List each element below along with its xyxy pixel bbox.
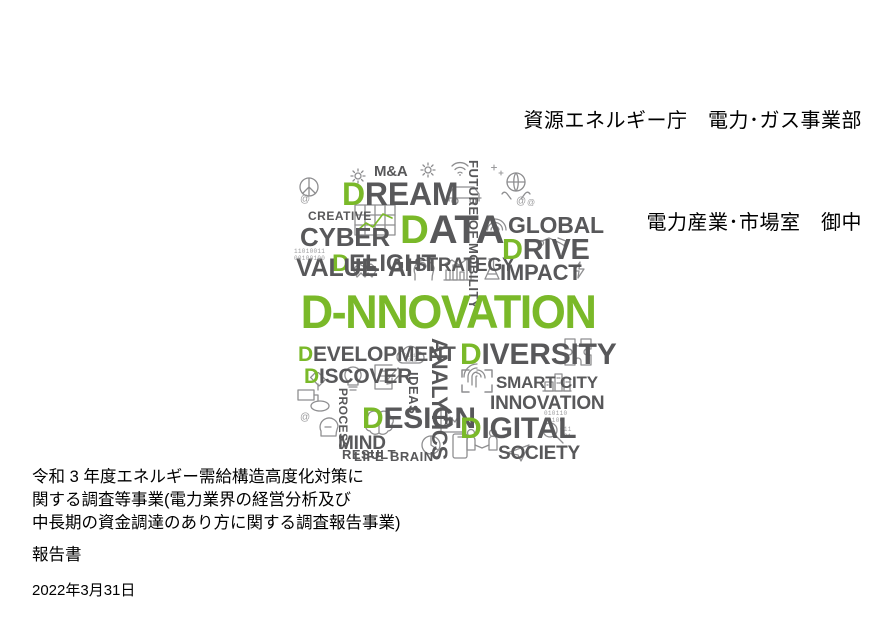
report-title-block: 令和 3 年度エネルギー需給構造高度化対策に 関する調査等事業(電力業界の経営分… <box>32 466 401 567</box>
wordcloud-word-digital: DIGITAL <box>460 414 576 444</box>
sparkle-icon <box>490 164 506 180</box>
report-title-line-2: 関する調査等事業(電力業界の経営分析及び <box>32 489 401 512</box>
report-label: 報告書 <box>32 544 401 567</box>
wordcloud-word-innovation: INNOVATION <box>490 394 604 413</box>
wordcloud-word-creative: CREATIVE <box>308 210 372 222</box>
report-title-line-3: 中長期の資金調達のあり方に関する調査報告事業) <box>32 512 401 535</box>
wordcloud-word-data: DATA <box>400 210 504 250</box>
wordcloud-stage: @ @ @ M&A DREAM CREATIVE CYBER DATA <box>292 148 604 466</box>
binary-motif: 11010011 00100100 <box>294 248 325 262</box>
wordcloud-word-ideas: IDEAS <box>407 372 420 414</box>
svg-text:@: @ <box>300 412 310 422</box>
report-date: 2022年3月31日 <box>32 581 135 601</box>
wordcloud-word-society: SOCIETY <box>498 444 580 463</box>
wordcloud-word-dream: DREAM <box>342 178 458 210</box>
svg-text:@: @ <box>516 196 526 206</box>
at-symbol-icon: @ @ <box>516 194 538 206</box>
wordcloud-graphic: @ @ @ M&A DREAM CREATIVE CYBER DATA <box>292 148 604 466</box>
svg-text:@: @ <box>300 194 310 204</box>
at-symbol-icon: @ <box>300 192 312 204</box>
wordcloud-word-life: LIFE <box>354 450 384 463</box>
svg-text:@: @ <box>527 198 535 206</box>
at-symbol-icon: @ <box>300 410 312 422</box>
wordcloud-word-smart-city: SMART CITY <box>496 374 598 391</box>
wordcloud-word-diversity: DIVERSITY <box>460 340 617 370</box>
wordcloud-word-impact: IMPACT <box>500 262 582 284</box>
report-title-line-1: 令和 3 年度エネルギー需給構造高度化対策に <box>32 466 401 489</box>
wordcloud-word-cyber: CYBER <box>300 224 390 250</box>
wordcloud-word-analytics: ANALYTICS <box>428 338 450 460</box>
wordcloud-word-ai: AI <box>388 256 413 281</box>
addressee-line-1: 資源エネルギー庁 電力･ガス事業部 <box>524 104 863 138</box>
wordcloud-word-discover: DISCOVER <box>304 366 412 387</box>
wordcloud-hero-word: D-NNOVATION <box>298 288 598 335</box>
